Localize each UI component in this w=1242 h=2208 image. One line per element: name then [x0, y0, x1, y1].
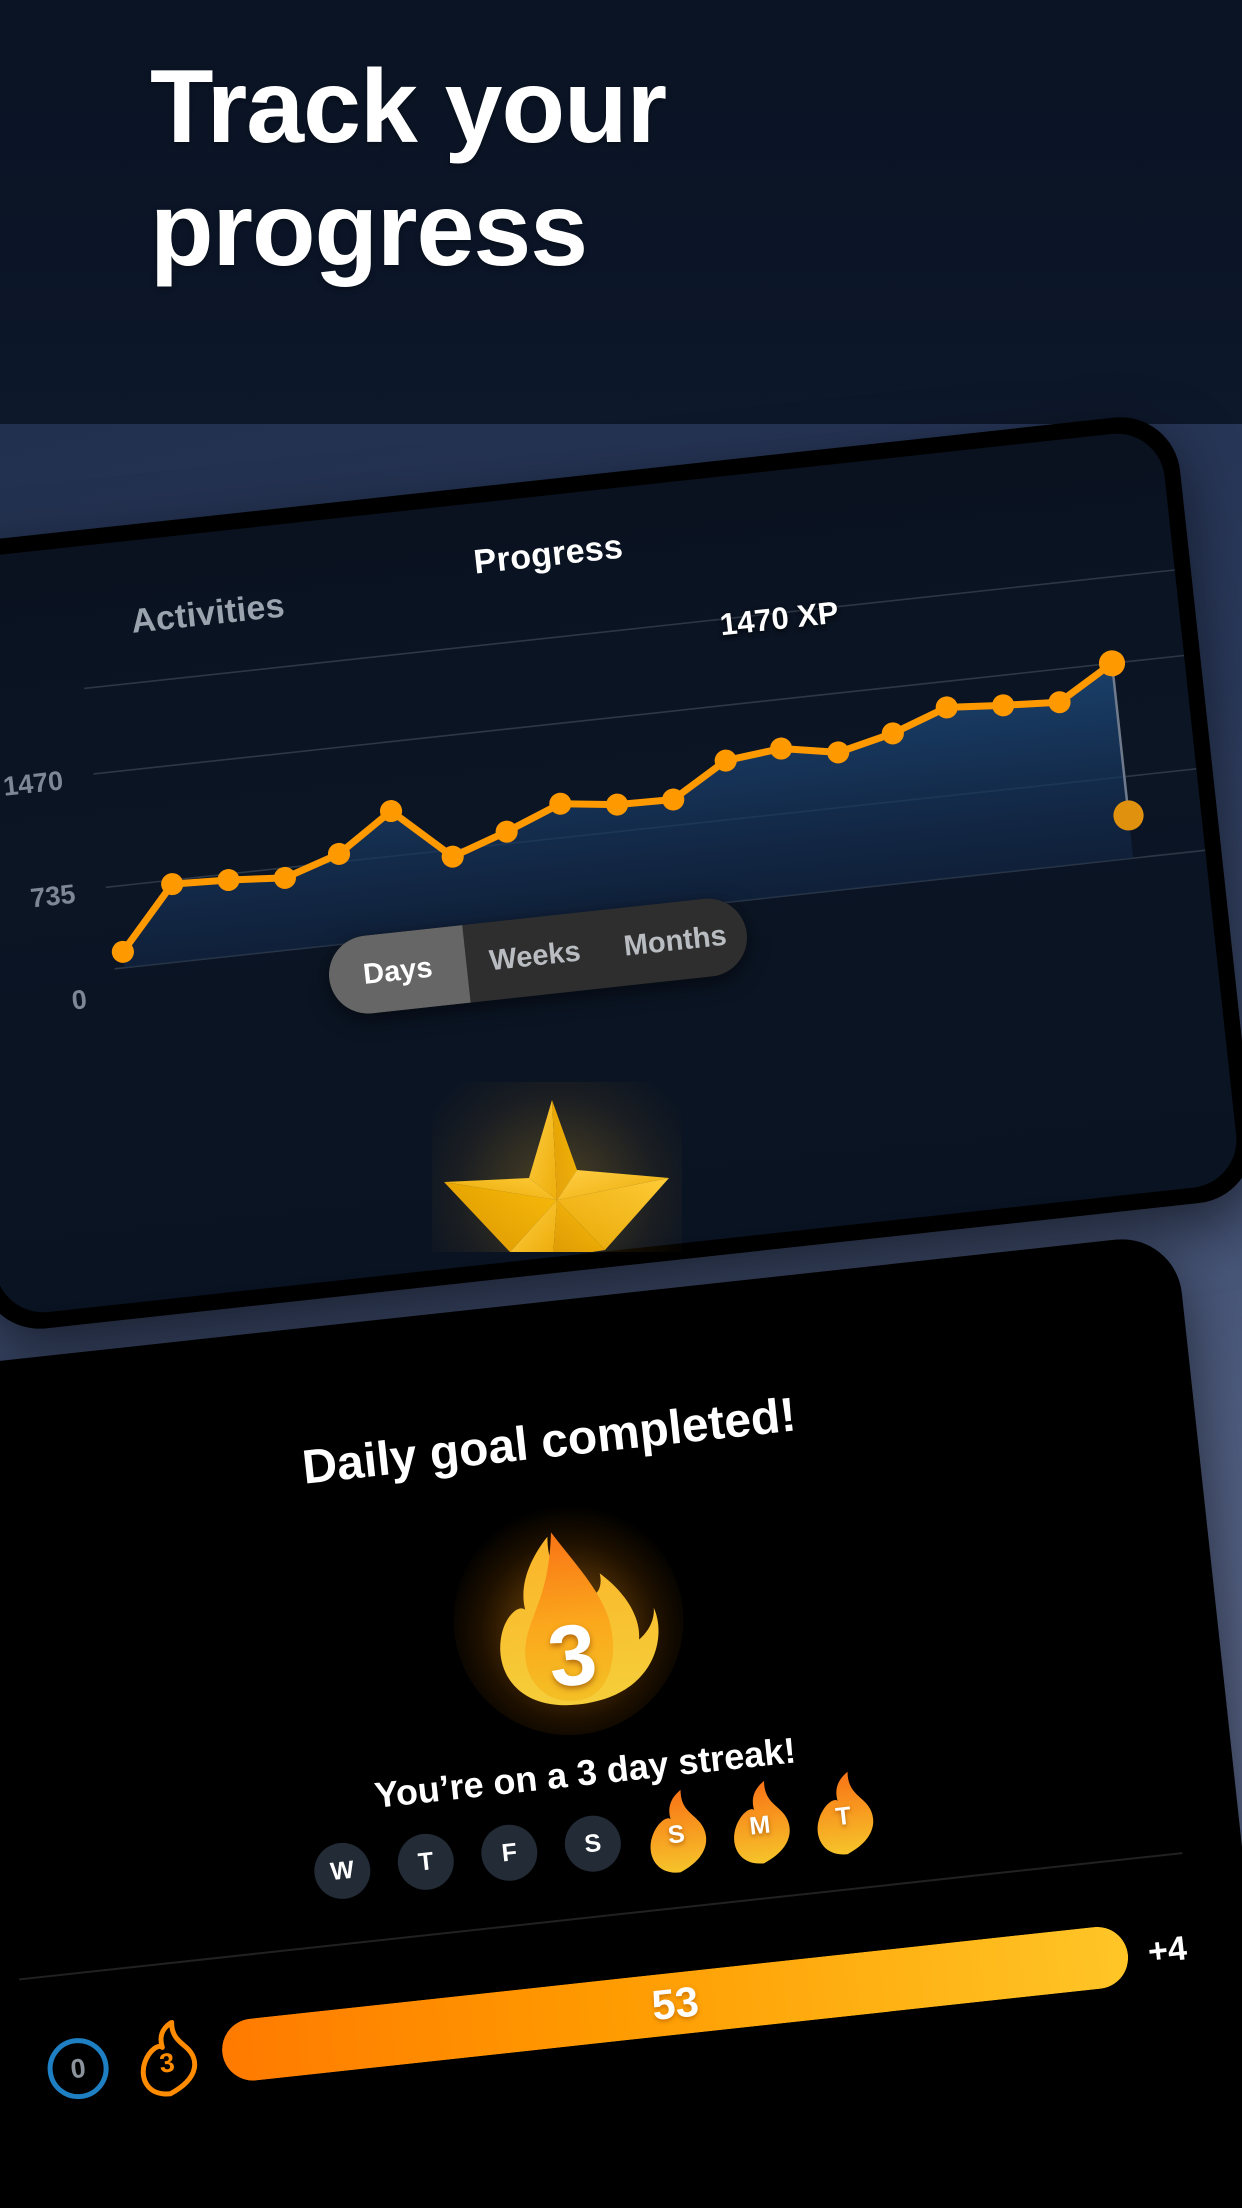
- xp-gain-label: +4: [1146, 1929, 1189, 1972]
- xp-progress-row: 0 3 53 +4: [40, 1900, 1192, 2119]
- daily-goal-title: Daily goal completed!: [300, 1387, 799, 1495]
- day-chip-m-active[interactable]: M: [729, 1795, 791, 1857]
- day-chip-w[interactable]: W: [311, 1840, 373, 1902]
- tab-progress[interactable]: Progress: [472, 528, 625, 583]
- day-chip-s2-active[interactable]: S: [645, 1804, 707, 1866]
- day-label: T: [417, 1847, 435, 1877]
- day-label: M: [748, 1810, 772, 1841]
- segment-weeks[interactable]: Weeks: [462, 910, 608, 1002]
- day-chip-f[interactable]: F: [478, 1822, 540, 1884]
- daily-goal-screen: Daily goal completed!: [0, 1251, 1242, 2208]
- day-chip-t2-active[interactable]: T: [812, 1786, 874, 1848]
- headline-line-2: progress: [150, 169, 1090, 292]
- flame-count: 3: [543, 1604, 601, 1708]
- gold-star-icon: [432, 1082, 682, 1252]
- daily-goal-phone-card: Daily goal completed!: [0, 1233, 1242, 2208]
- day-chip-s1[interactable]: S: [562, 1813, 624, 1875]
- day-label: W: [329, 1855, 356, 1886]
- page-title: Track your progress: [150, 46, 1090, 291]
- day-label: S: [666, 1819, 686, 1850]
- streak-value: 3: [127, 2017, 207, 2100]
- day-label: F: [500, 1838, 518, 1868]
- level-value: 0: [42, 2032, 115, 2105]
- level-badge[interactable]: 0: [42, 2032, 115, 2105]
- xp-progress-bar[interactable]: 53: [219, 1924, 1132, 2084]
- headline-line-1: Track your: [150, 46, 1090, 169]
- day-chip-t1[interactable]: T: [395, 1831, 457, 1893]
- streak-badge[interactable]: 3: [127, 2017, 207, 2100]
- xp-value: 53: [219, 1924, 1132, 2084]
- day-label: T: [834, 1801, 852, 1831]
- promo-screenshot: Track your progress Activities Progress: [0, 0, 1242, 2208]
- day-label: S: [583, 1828, 603, 1859]
